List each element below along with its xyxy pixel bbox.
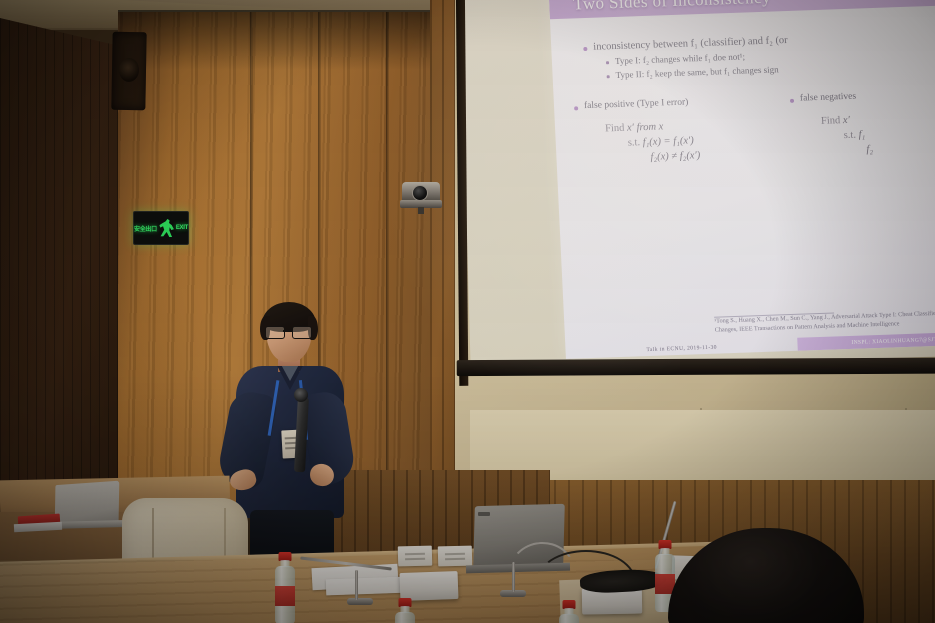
gooseneck-mic-base [347,598,373,605]
emergency-exit-sign: 安全出口 EXIT [133,211,189,245]
column-heading-text: false negatives [800,92,857,104]
bullet-dot-icon [583,47,587,51]
math-expression: f₁(x) = f₁(x′) [642,136,694,149]
math-expression: f₁ [858,130,865,141]
wall-top-shadow [118,10,448,70]
exit-sign-label-en: EXIT [176,225,188,231]
bullet-dot-icon [574,106,578,110]
bottle-body [395,612,415,623]
water-bottle [272,552,298,623]
math-expression: x′ [843,115,850,126]
slide-bullet-text: Type II: f₂ keep the same, but f₁ change… [615,64,778,80]
name-card-text-line [445,553,465,555]
screen-surface: Motivation Conclusion Two Sides of Incon… [460,0,935,370]
math-keyword: Find [821,115,841,127]
presentation-photo-scene: Motivation Conclusion Two Sides of Incon… [0,0,935,623]
exit-sign-label-cn: 安全出口 [134,224,157,233]
microphone-console [400,571,459,601]
math-block: Find x′ from x s.t. f₁(x) = f₁(x′) f₂(x)… [605,116,765,167]
running-man-icon [159,219,174,237]
video-conference-camera [400,182,444,212]
name-card-text-line [405,553,425,555]
wall-speaker [111,32,146,111]
name-card-text-line [445,558,465,560]
math-expression: f₂(x) ≠ f₂(x′) [650,151,700,164]
gooseneck-mic-post [355,570,358,600]
speaker-cone-icon [119,58,139,82]
glasses-lens-right [292,326,312,339]
eyeglasses-icon [264,326,314,338]
projection-screen: Motivation Conclusion Two Sides of Incon… [452,0,935,406]
math-line: f₂ [866,139,935,158]
glasses-bridge [283,330,293,332]
column-heading: false negatives [790,87,935,104]
camera-stalk [418,207,424,214]
dark-wood-wall-left [0,18,128,518]
math-keyword: s.t. [628,137,641,148]
slide-column-false-positive: false positive (Type I error) Find x′ fr… [574,95,765,168]
wall-panel-seam [386,12,389,510]
math-expression: f₂ [866,145,873,156]
name-card [438,546,473,567]
microphone-head-icon [294,388,308,402]
math-block: Find x′ s.t. f₁ f₂ [821,108,935,159]
slide-title: Two Sides of Inconsistency [549,0,771,15]
water-bottle [556,600,582,623]
screen-bottom-bar [457,357,935,376]
slide-body: inconsistency between f₁ (classifier) an… [550,6,935,359]
bullet-dot-icon [790,99,794,103]
laptop-logo [478,512,490,516]
camera-lens-icon [412,185,428,201]
column-heading: false positive (Type I error) [574,95,762,112]
math-line: f₂(x) ≠ f₂(x′) [650,146,765,165]
column-heading-text: false positive (Type I error) [584,97,689,111]
slide-column-false-negative: false negatives Find x′ s.t. f₁ [790,87,935,160]
name-card-text-line [405,558,425,560]
bullet-dot-icon [606,61,609,64]
slide-bullet-text: Type I: f₂ changes while f₁ doe not¹; [615,51,745,66]
projected-slide: Motivation Conclusion Two Sides of Incon… [548,0,935,359]
slide-two-column-section: false positive (Type I error) Find x′ fr… [574,87,935,168]
water-bottle [392,598,418,623]
math-expression: x′ from x [627,121,664,133]
bullet-square-icon [607,75,610,78]
math-keyword: Find [605,123,625,135]
bottle-label [275,586,295,606]
glasses-lens-left [265,326,285,339]
math-keyword: s.t. [843,130,856,141]
paper-sheet [326,577,407,596]
bottle-body [559,614,579,623]
name-card [398,546,433,567]
